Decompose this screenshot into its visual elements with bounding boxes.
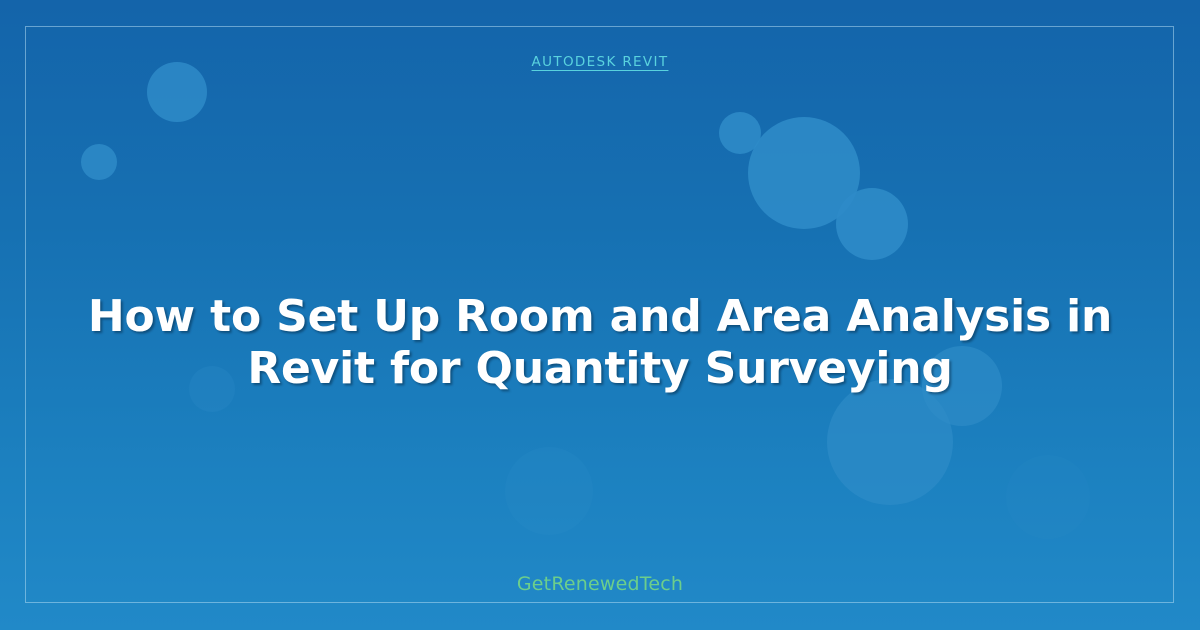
social-share-card: AUTODESK REVIT How to Set Up Room and Ar… [0, 0, 1200, 630]
category-label[interactable]: AUTODESK REVIT [532, 54, 669, 70]
page-title: How to Set Up Room and Area Analysis in … [70, 291, 1130, 393]
card-content: AUTODESK REVIT How to Set Up Room and Ar… [0, 0, 1200, 630]
brand-footer: GetRenewedTech [0, 573, 1200, 595]
title-container: How to Set Up Room and Area Analysis in … [0, 262, 1200, 423]
